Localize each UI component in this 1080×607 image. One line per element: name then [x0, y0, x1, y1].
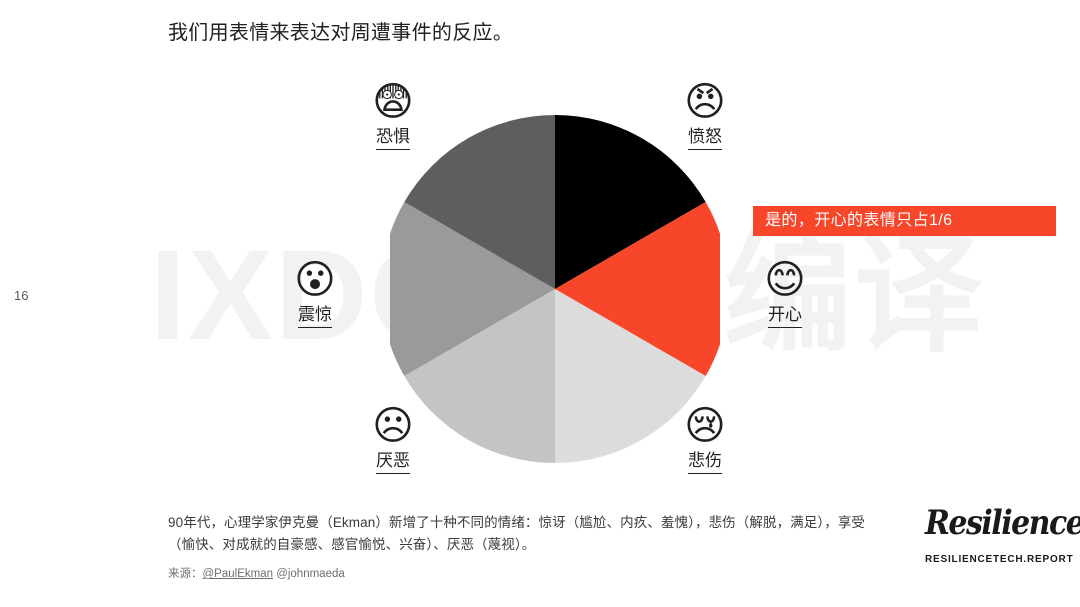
pie-label-shock-text: 震惊 [298, 304, 332, 328]
pie-label-fear: 😨 恐惧 [333, 80, 453, 150]
logo-wordmark: Resilience [925, 504, 1070, 544]
crying-face-icon: 😢 [645, 404, 765, 448]
source-prefix: 来源： [168, 568, 203, 580]
footnote: 90年代，心理学家伊克曼（Ekman）新增了十种不同的情绪：惊讶（尴尬、内疚、羞… [168, 512, 898, 556]
pie-label-disgust: ☹ 厌恶 [333, 404, 453, 474]
source-handle-paulekman[interactable]: @PaulEkman [203, 568, 273, 580]
footnote-line-1: 90年代，心理学家伊克曼（Ekman）新增了十种不同的情绪：惊讶（尴尬、内疚、羞… [168, 512, 898, 534]
source-handle-johnmaeda[interactable]: @johnmaeda [276, 568, 345, 580]
astonished-face-icon: 😮 [255, 258, 375, 302]
slide-canvas: IXDC中文编译 我们用表情来表达对周遭事件的反应。 16 [0, 0, 1080, 607]
angry-face-icon: 😠 [645, 80, 765, 124]
pie-label-shock: 😮 震惊 [255, 258, 375, 328]
fearful-face-icon: 😨 [333, 80, 453, 124]
page-title: 我们用表情来表达对周遭事件的反应。 [168, 18, 513, 48]
smiling-face-icon: 😊 [725, 258, 845, 302]
frowning-face-icon: ☹ [333, 404, 453, 448]
page-number: 16 [14, 288, 28, 303]
footnote-line-2: （愉快、对成就的自豪感、感官愉悦、兴奋）、厌恶（蔑视）。 [168, 534, 898, 556]
pie-label-anger-text: 愤怒 [688, 126, 722, 150]
pie-label-happy: 😊 开心 [725, 258, 845, 328]
logo-url: RESILIENCETECH.REPORT [925, 554, 1070, 565]
brand-logo: Resilience RESILIENCETECH.REPORT [925, 508, 1070, 565]
pie-label-sadness-text: 悲伤 [688, 450, 722, 474]
pie-label-happy-text: 开心 [768, 304, 802, 328]
source-line: 来源：@PaulEkman @johnmaeda [168, 566, 345, 582]
pie-label-anger: 😠 愤怒 [645, 80, 765, 150]
pie-label-disgust-text: 厌恶 [376, 450, 410, 474]
pie-label-fear-text: 恐惧 [376, 126, 410, 150]
pie-label-sadness: 😢 悲伤 [645, 404, 765, 474]
callout-banner: 是的，开心的表情只占1/6 [753, 206, 1056, 236]
